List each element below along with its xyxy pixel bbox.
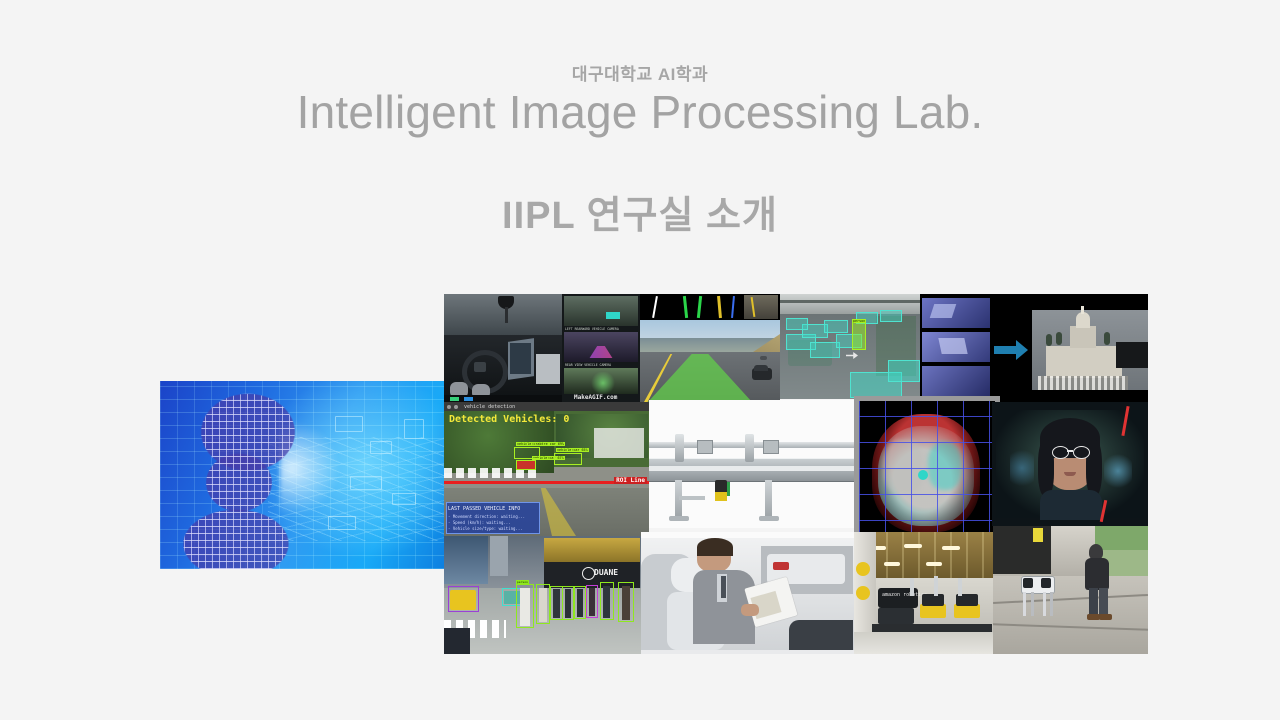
tile-art [444, 294, 562, 402]
research-collage: LEFT REARWARD VEHICLE CAMERA REAR VIEW V… [444, 294, 1148, 654]
collage-tile-face-recognition [992, 402, 1148, 526]
detection-box-vehicle [516, 460, 536, 470]
detection-label-person: person [516, 580, 529, 584]
tile-art [920, 294, 1148, 402]
collage-tile-pedestrian-detection-city: DUANE person [444, 536, 641, 654]
detection-label-vehicle-1: vehicle:crabtre car 69% [516, 442, 565, 446]
camera-label-left-rearward: LEFT REARWARD VEHICLE CAMERA [565, 327, 619, 331]
collage-tile-medical-ct-registration [854, 396, 1000, 552]
chip-outline [328, 516, 356, 530]
detection-box-person [852, 322, 866, 350]
page-title: Intelligent Image Processing Lab. [0, 85, 1280, 139]
warehouse-brand-label: amazon robotics [882, 592, 927, 598]
collage-tile-warehouse-robots: amazon robotics [854, 532, 993, 654]
tile-art [641, 532, 854, 654]
page-subtitle: IIPL 연구실 소개 [0, 184, 1280, 239]
ai-head-graphic [160, 381, 445, 569]
chip-outline [404, 419, 424, 439]
department-line: 대구대학교 AI학과 [0, 60, 1280, 85]
tile-art: LEFT REARWARD VEHICLE CAMERA REAR VIEW V… [562, 294, 640, 402]
head-wireframe-mesh [170, 389, 320, 569]
wireframe-head-icon [170, 389, 320, 569]
camera-label-rear-view: REAR VIEW VEHICLE CAMERA [565, 363, 611, 367]
detection-box-vehicle [514, 447, 540, 459]
presentation-slide: 대구대학교 AI학과 Intelligent Image Processing … [0, 0, 1280, 720]
tile-art: vehicle detection Detected Vehicles: 0 v… [444, 402, 649, 536]
tile-art: Left Curvature Right Curvature Center Al… [640, 294, 780, 402]
storefront-sign-duane: DUANE [594, 568, 618, 577]
chip-outline [370, 441, 392, 454]
detection-label-vehicle-2: vehicle:car 65% [556, 448, 589, 452]
tile-art: DUANE person [444, 536, 641, 654]
tile-art [854, 396, 1000, 552]
detection-box-bus [448, 586, 479, 612]
last-passed-vehicle-info-title: LAST PASSED VEHICLE INFO [448, 506, 520, 512]
collage-tile-lane-detection-highway: Left Curvature Right Curvature Center Al… [640, 294, 780, 402]
chip-outline [392, 493, 416, 505]
collage-tile-quadruped-robot [993, 526, 1148, 654]
roi-line-label: ROI Line [614, 477, 647, 484]
detection-box [786, 318, 808, 330]
tile-art [993, 526, 1148, 654]
tile-art: amazon robotics [854, 532, 993, 654]
last-passed-vehicle-info-line1: - Movement direction: waiting... [448, 514, 525, 519]
detected-vehicles-counter: Detected Vehicles: 0 [449, 414, 569, 425]
last-passed-vehicle-info-line2: - Speed (km/h): waiting... [448, 520, 511, 525]
detection-box [888, 360, 920, 382]
collage-tile-tesla-interior [444, 294, 562, 402]
tile-art: person [780, 294, 920, 399]
collage-tile-guardrail-sensor [649, 400, 854, 528]
tile-art [649, 400, 854, 528]
watermark-makeagif: MakeAGIF.com [574, 394, 617, 401]
detection-box [880, 310, 902, 322]
detection-box-vehicle [554, 453, 582, 465]
window-title-vehicle-detection: vehicle detection [464, 404, 515, 410]
tile-art [992, 402, 1148, 526]
collage-tile-vehicle-detection-street: vehicle detection Detected Vehicles: 0 v… [444, 402, 649, 536]
collage-tile-parking-lot-3d-detection: person [780, 294, 920, 399]
detection-box [824, 320, 848, 333]
detection-label-person: person [852, 319, 866, 323]
chip-outline [350, 476, 382, 490]
collage-tile-satellite-3d-reconstruction [920, 294, 1148, 402]
collage-tile-autonomous-car-passenger [641, 532, 854, 654]
collage-tile-thermal-night-vision: LEFT REARWARD VEHICLE CAMERA REAR VIEW V… [562, 294, 640, 402]
last-passed-vehicle-info-line3: - Vehicle size/type: waiting... [448, 526, 523, 531]
arrow-icon-head [1016, 340, 1028, 360]
